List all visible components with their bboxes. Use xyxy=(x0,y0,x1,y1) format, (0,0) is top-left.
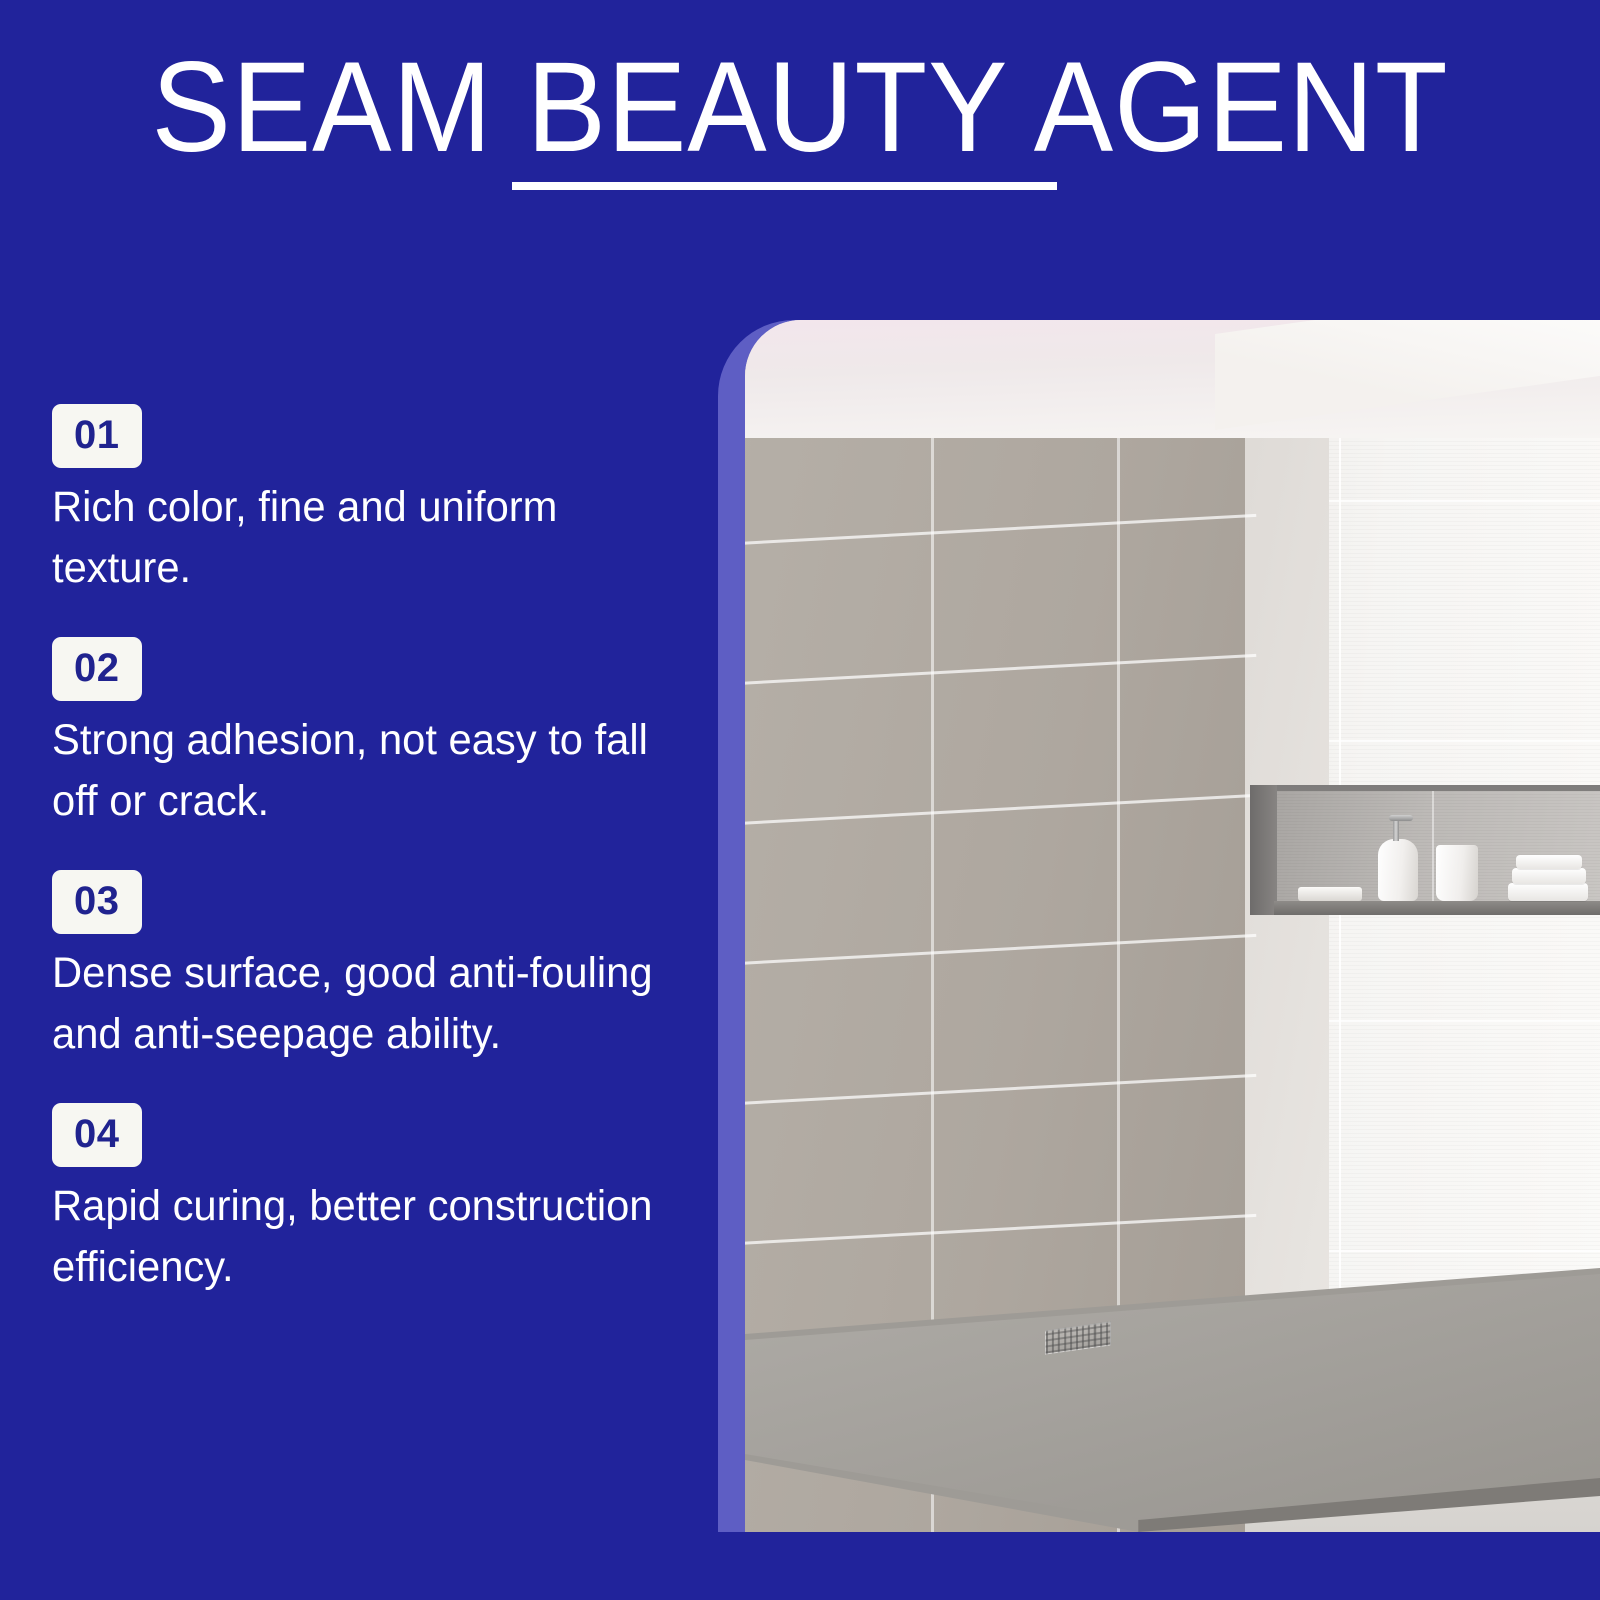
folded-towel xyxy=(1516,855,1582,869)
soap-dispenser-neck xyxy=(1393,819,1399,841)
feature-text-04: Rapid curing, better construction effici… xyxy=(52,1176,683,1298)
folded-towel xyxy=(1512,868,1586,884)
feature-number-badge-02: 02 xyxy=(52,637,142,701)
feature-number-badge-01: 01 xyxy=(52,404,142,468)
niche-grout-line xyxy=(1432,791,1434,903)
feature-number-badge-03: 03 xyxy=(52,870,142,934)
feature-item-02: 02 Strong adhesion, not easy to fall off… xyxy=(52,637,702,832)
soap-dispenser-pump xyxy=(1389,815,1413,821)
feature-text-03: Dense surface, good anti-fouling and ant… xyxy=(52,943,683,1065)
folded-towel xyxy=(1508,883,1588,901)
niche-shelf-ledge xyxy=(1274,901,1600,915)
product-photo-shower-room xyxy=(745,320,1600,1532)
feature-item-01: 01 Rich color, fine and uniform texture. xyxy=(52,404,702,599)
feature-list: 01 Rich color, fine and uniform texture.… xyxy=(52,404,702,1298)
tumbler-cup xyxy=(1436,845,1478,901)
photo-niche-shelf xyxy=(1250,785,1600,915)
feature-number-badge-04: 04 xyxy=(52,1103,142,1167)
feature-text-01: Rich color, fine and uniform texture. xyxy=(52,477,683,599)
page-title: SEAM BEAUTY AGENT xyxy=(56,44,1544,172)
title-underline-rule xyxy=(512,182,1057,190)
niche-side-panel xyxy=(1250,785,1277,915)
soap-dispenser xyxy=(1378,839,1418,901)
feature-text-02: Strong adhesion, not easy to fall off or… xyxy=(52,710,683,832)
photo-accent-frame xyxy=(718,320,1600,1532)
feature-item-04: 04 Rapid curing, better construction eff… xyxy=(52,1103,702,1298)
feature-item-03: 03 Dense surface, good anti-fouling and … xyxy=(52,870,702,1065)
soap-bar xyxy=(1298,887,1362,901)
title-block: SEAM BEAUTY AGENT xyxy=(0,44,1600,172)
poster-canvas: SEAM BEAUTY AGENT 01 Rich color, fine an… xyxy=(0,0,1600,1600)
